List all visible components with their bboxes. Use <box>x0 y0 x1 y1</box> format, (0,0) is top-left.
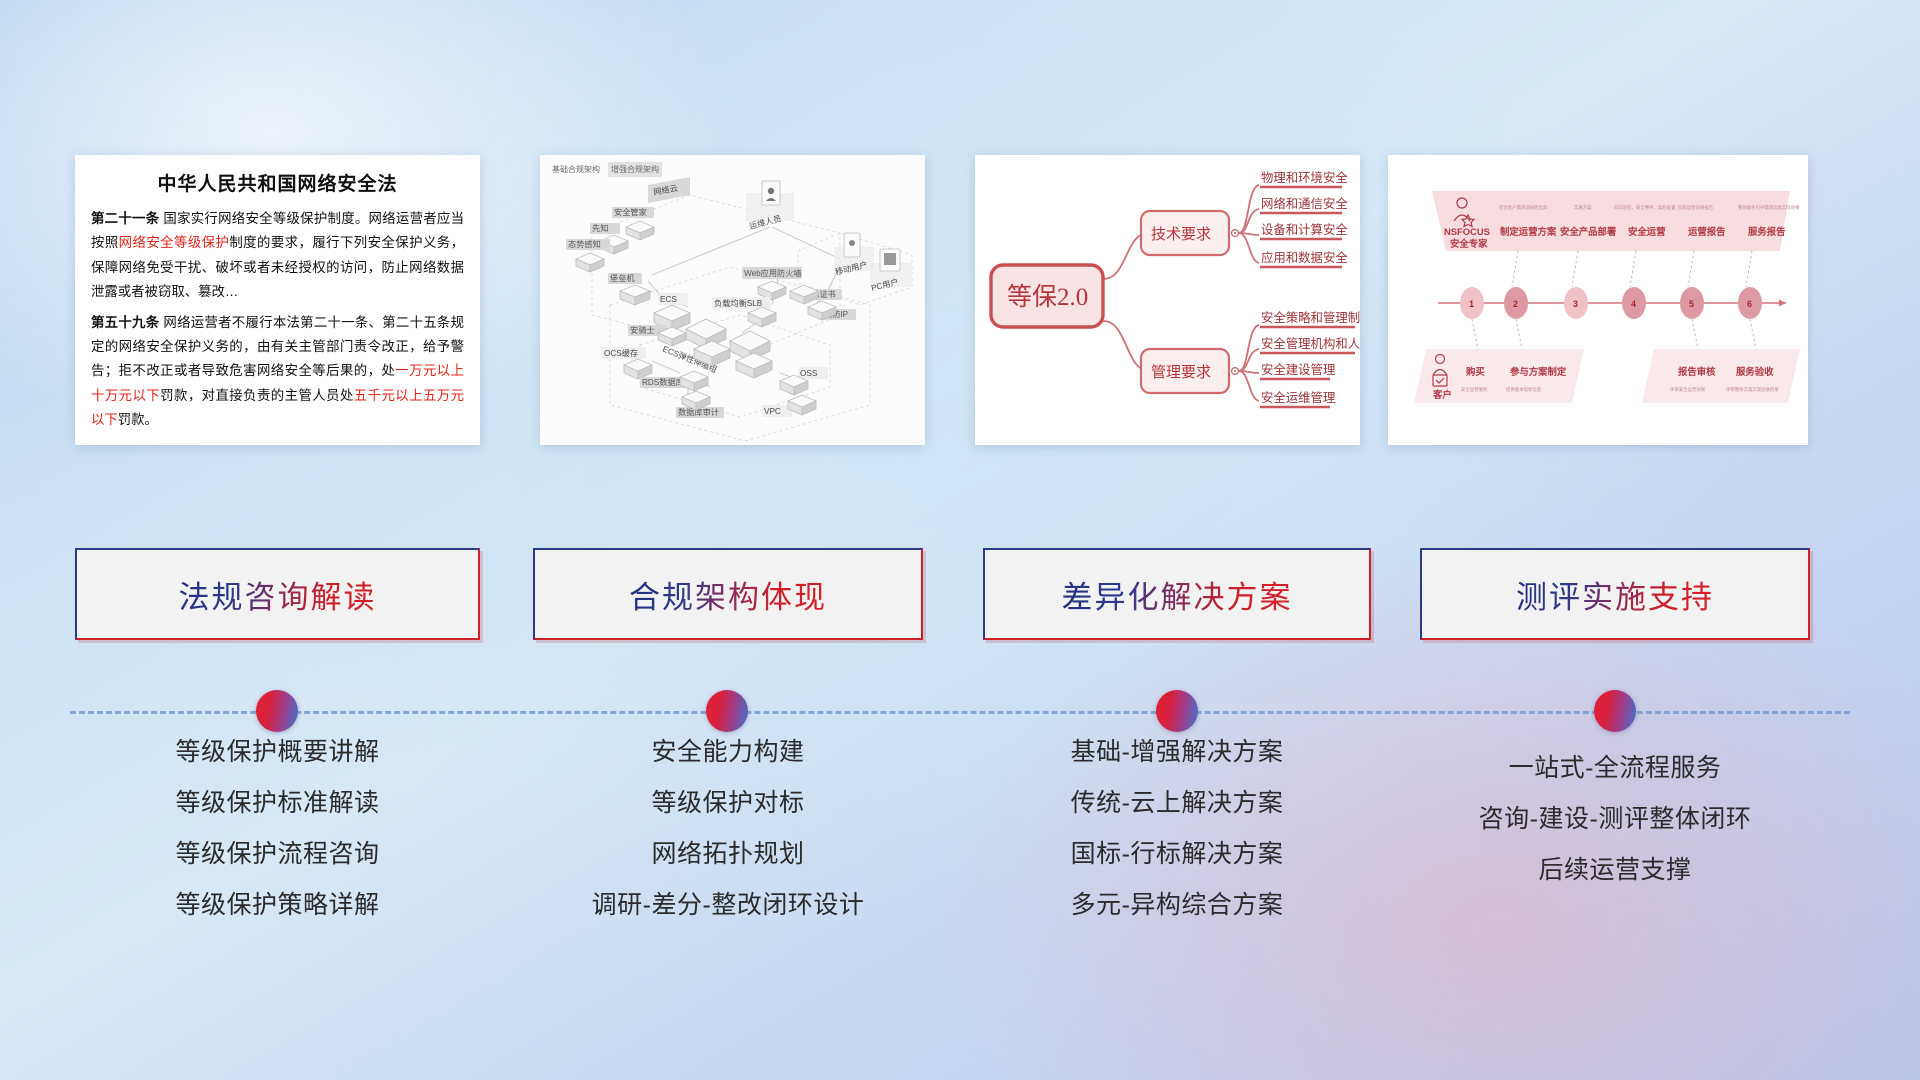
list-item: 安全能力构建 <box>533 740 923 765</box>
timeline-node-5: 5 <box>1689 299 1694 309</box>
list-item: 传统-云上解决方案 <box>983 791 1371 816</box>
svg-text:Web应用防火墙: Web应用防火墙 <box>744 268 802 278</box>
card-cybersecurity-law[interactable]: 中华人民共和国网络安全法 第二十一条 国家实行网络安全等级保护制度。网络运营者应… <box>75 155 480 445</box>
detail-column-4: 一站式-全流程服务 咨询-建设-测评整体闭环 后续运营支撑 <box>1420 756 1810 909</box>
node-vpc: VPC <box>762 395 816 417</box>
detail-column-3: 基础-增强解决方案 传统-云上解决方案 国标-行标解决方案 多元-异构综合方案 <box>983 740 1371 944</box>
node-ocs-cache: OCS缓存 <box>602 347 652 379</box>
svg-text:态势感知: 态势感知 <box>568 239 601 249</box>
node-bastion-host: 堡垒机 <box>608 273 650 305</box>
card-mindmap-dengbao[interactable]: 技术要求 物理和环境安全 网络和通信安全 设备和计算安全 应用和数据安全 <box>975 155 1360 445</box>
mindmap-leaf-2-4: 安全运维管理 <box>1261 390 1335 405</box>
node-network-cloud: 网络云 <box>648 177 690 203</box>
node-ops-personnel: 运维人员 <box>746 181 794 231</box>
section-titles-row: 法规咨询解读 合规架构体现 差异化解决方案 测评实施支持 <box>0 548 1920 644</box>
law-article-59-label: 第五十九条 <box>91 315 159 330</box>
top-step-4-title: 运营报告 <box>1688 226 1726 237</box>
node-situational-awareness: 态势感知 <box>566 239 610 272</box>
architecture-diagram: 基础合规架构 增强合规架构 <box>540 155 925 445</box>
svg-text:安全管家: 安全管家 <box>614 207 647 217</box>
timeline-track <box>0 690 1920 734</box>
list-item: 一站式-全流程服务 <box>1420 756 1810 781</box>
card-nsfocus-service-timeline[interactable]: NSFOCUS 安全专家 结合客户需求调研后出具 制定运营方案 实施方案 安全产… <box>1388 155 1808 445</box>
nsfocus-expert-line-2: 安全专家 <box>1450 238 1488 249</box>
section-title-box-4[interactable]: 测评实施支持 <box>1420 548 1810 640</box>
timeline-marker-2[interactable] <box>706 690 748 732</box>
section-title-4: 测评实施支持 <box>1516 572 1714 617</box>
svg-text:VPC: VPC <box>764 407 781 416</box>
nsfocus-expert-line-1: NSFOCUS <box>1444 226 1490 237</box>
section-title-box-1[interactable]: 法规咨询解读 <box>75 548 480 640</box>
list-item: 基础-增强解决方案 <box>983 740 1371 765</box>
mindmap-leaf-2-1: 安全策略和管理制度 <box>1261 310 1360 325</box>
bottom-step-4-sub: 评审整体方案方案验收结果 <box>1726 386 1779 393</box>
mindmap-svg: 技术要求 物理和环境安全 网络和通信安全 设备和计算安全 应用和数据安全 <box>975 155 1360 445</box>
bottom-step-2-title: 参与方案制定 <box>1510 366 1567 377</box>
top-step-3-title: 安全运营 <box>1628 226 1666 237</box>
section-title-3: 差异化解决方案 <box>1062 572 1293 617</box>
mindmap-leaf-2-3: 安全建设管理 <box>1261 362 1335 377</box>
mindmap-diagram: 技术要求 物理和环境安全 网络和通信安全 设备和计算安全 应用和数据安全 <box>975 155 1360 445</box>
top-step-3-sub: 日常巡检、安全事件、高危处置 <box>1614 204 1676 211</box>
bottom-step-1-title: 购买 <box>1466 366 1485 377</box>
svg-text:负载均衡SLB: 负载均衡SLB <box>714 298 763 308</box>
timeline-dashed-line <box>70 711 1850 714</box>
svg-text:OSS: OSS <box>800 369 818 378</box>
bottom-step-3-title: 报告审核 <box>1678 366 1716 377</box>
svg-text:RDS数据库: RDS数据库 <box>642 377 684 387</box>
bottom-step-3-sub: 评审安全运营效果 <box>1670 386 1706 393</box>
timeline-node-4: 4 <box>1631 299 1636 309</box>
section-title-box-3[interactable]: 差异化解决方案 <box>983 548 1371 640</box>
detail-column-2: 安全能力构建 等级保护对标 网络拓扑规划 调研-差分-整改闭环设计 <box>533 740 923 944</box>
list-item: 等级保护概要讲解 <box>75 740 480 765</box>
timeline-node-1: 1 <box>1469 299 1474 309</box>
list-item: 后续运营支撑 <box>1420 858 1810 883</box>
law-article-21-highlight: 网络安全等级保护 <box>119 235 230 250</box>
mindmap-leaf-2-2: 安全管理机构和人员 <box>1261 336 1360 351</box>
list-item: 网络拓扑规划 <box>533 842 923 867</box>
law-title: 中华人民共和国网络安全法 <box>91 169 464 196</box>
nsfocus-timeline-diagram: NSFOCUS 安全专家 结合客户需求调研后出具 制定运营方案 实施方案 安全产… <box>1388 155 1808 445</box>
timeline-node-6: 6 <box>1747 299 1752 309</box>
timeline-node-2: 2 <box>1513 299 1518 309</box>
law-document: 中华人民共和国网络安全法 第二十一条 国家实行网络安全等级保护制度。网络运营者应… <box>75 155 480 443</box>
svg-text:先知: 先知 <box>592 223 608 233</box>
list-item: 等级保护策略详解 <box>75 893 480 918</box>
top-step-2-sub: 实施方案 <box>1574 204 1592 211</box>
timeline-marker-1[interactable] <box>256 690 298 732</box>
list-item: 调研-差分-整改闭环设计 <box>533 893 923 918</box>
svg-text:ECS: ECS <box>660 295 677 304</box>
top-step-1-title: 制定运营方案 <box>1500 226 1557 237</box>
detail-columns: 等级保护概要讲解 等级保护标准解读 等级保护流程咨询 等级保护策略详解 安全能力… <box>0 740 1920 1000</box>
list-item: 等级保护流程咨询 <box>75 842 480 867</box>
bottom-step-4-title: 服务验收 <box>1736 366 1774 377</box>
svg-text:安骑士: 安骑士 <box>630 325 655 335</box>
nsfocus-timeline-svg: NSFOCUS 安全专家 结合客户需求调研后出具 制定运营方案 实施方案 安全产… <box>1388 155 1808 445</box>
law-article-59-text-c: 罚款。 <box>118 412 158 427</box>
detail-column-1: 等级保护概要讲解 等级保护标准解读 等级保护流程咨询 等级保护策略详解 <box>75 740 480 944</box>
law-article-21-label: 第二十一条 <box>91 211 159 226</box>
cards-row: 中华人民共和国网络安全法 第二十一条 国家实行网络安全等级保护制度。网络运营者应… <box>0 0 1920 450</box>
bottom-step-2-sub: 提供基本现状信息 <box>1506 386 1542 393</box>
list-item: 多元-异构综合方案 <box>983 893 1371 918</box>
node-pc-user: PC用户 <box>870 249 912 293</box>
list-item: 国标-行标解决方案 <box>983 842 1371 867</box>
section-title-1: 法规咨询解读 <box>179 572 377 617</box>
node-oss: OSS <box>780 367 828 395</box>
list-item: 等级保护标准解读 <box>75 791 480 816</box>
top-step-4-sub: 阶段运营效果报告 <box>1678 204 1714 211</box>
mindmap-leaf-1-3: 设备和计算安全 <box>1261 222 1348 237</box>
mindmap-leaf-1-4: 应用和数据安全 <box>1261 250 1348 265</box>
node-ca-certificate: CA证书 <box>790 285 842 304</box>
timeline-marker-4[interactable] <box>1594 690 1636 732</box>
top-step-1-sub: 结合客户需求调研后出具 <box>1499 204 1548 211</box>
top-step-5-sub: 整体服务引导需求出具实际效果 <box>1738 204 1800 211</box>
top-step-5-title: 服务报告 <box>1748 226 1786 237</box>
mindmap-root-label: 等保2.0 <box>1007 283 1088 311</box>
top-step-2-title: 安全产品部署 <box>1560 226 1617 237</box>
law-article-59: 第五十九条 网络运营者不履行本法第二十一条、第二十五条规定的网络安全保护义务的，… <box>91 311 464 433</box>
bottom-step-1-sub: 安全运营服务 <box>1461 386 1488 393</box>
svg-text:OCS缓存: OCS缓存 <box>604 348 638 358</box>
svg-text:堡垒机: 堡垒机 <box>610 273 635 283</box>
node-load-balancer-slb: 负载均衡SLB <box>712 297 776 327</box>
section-title-box-2[interactable]: 合规架构体现 <box>533 548 923 640</box>
nsfocus-customer-label: 客户 <box>1432 389 1452 400</box>
card-compliance-architecture[interactable]: 基础合规架构 增强合规架构 <box>540 155 925 445</box>
mindmap-branch-1-title: 技术要求 <box>1151 226 1211 243</box>
architecture-svg: 网络云 安全管家 先知 <box>540 155 925 445</box>
node-anti-ddos-ip: 高防IP <box>808 301 856 320</box>
law-article-59-text-b: 罚款，对直接负责的主管人员处 <box>160 388 354 403</box>
section-title-2: 合规架构体现 <box>629 572 827 617</box>
law-article-21: 第二十一条 国家实行网络安全等级保护制度。网络运营者应当按照网络安全等级保护制度… <box>91 207 464 305</box>
node-database-audit: 数据库审计 <box>676 391 724 418</box>
list-item: 等级保护对标 <box>533 791 923 816</box>
mindmap-leaf-1-2: 网络和通信安全 <box>1261 196 1348 211</box>
mindmap-branch-2-title: 管理要求 <box>1151 364 1211 381</box>
list-item: 咨询-建设-测评整体闭环 <box>1420 807 1810 832</box>
timeline-marker-3[interactable] <box>1156 690 1198 732</box>
timeline-node-3: 3 <box>1573 299 1578 309</box>
mindmap-leaf-1-1: 物理和环境安全 <box>1261 170 1348 185</box>
